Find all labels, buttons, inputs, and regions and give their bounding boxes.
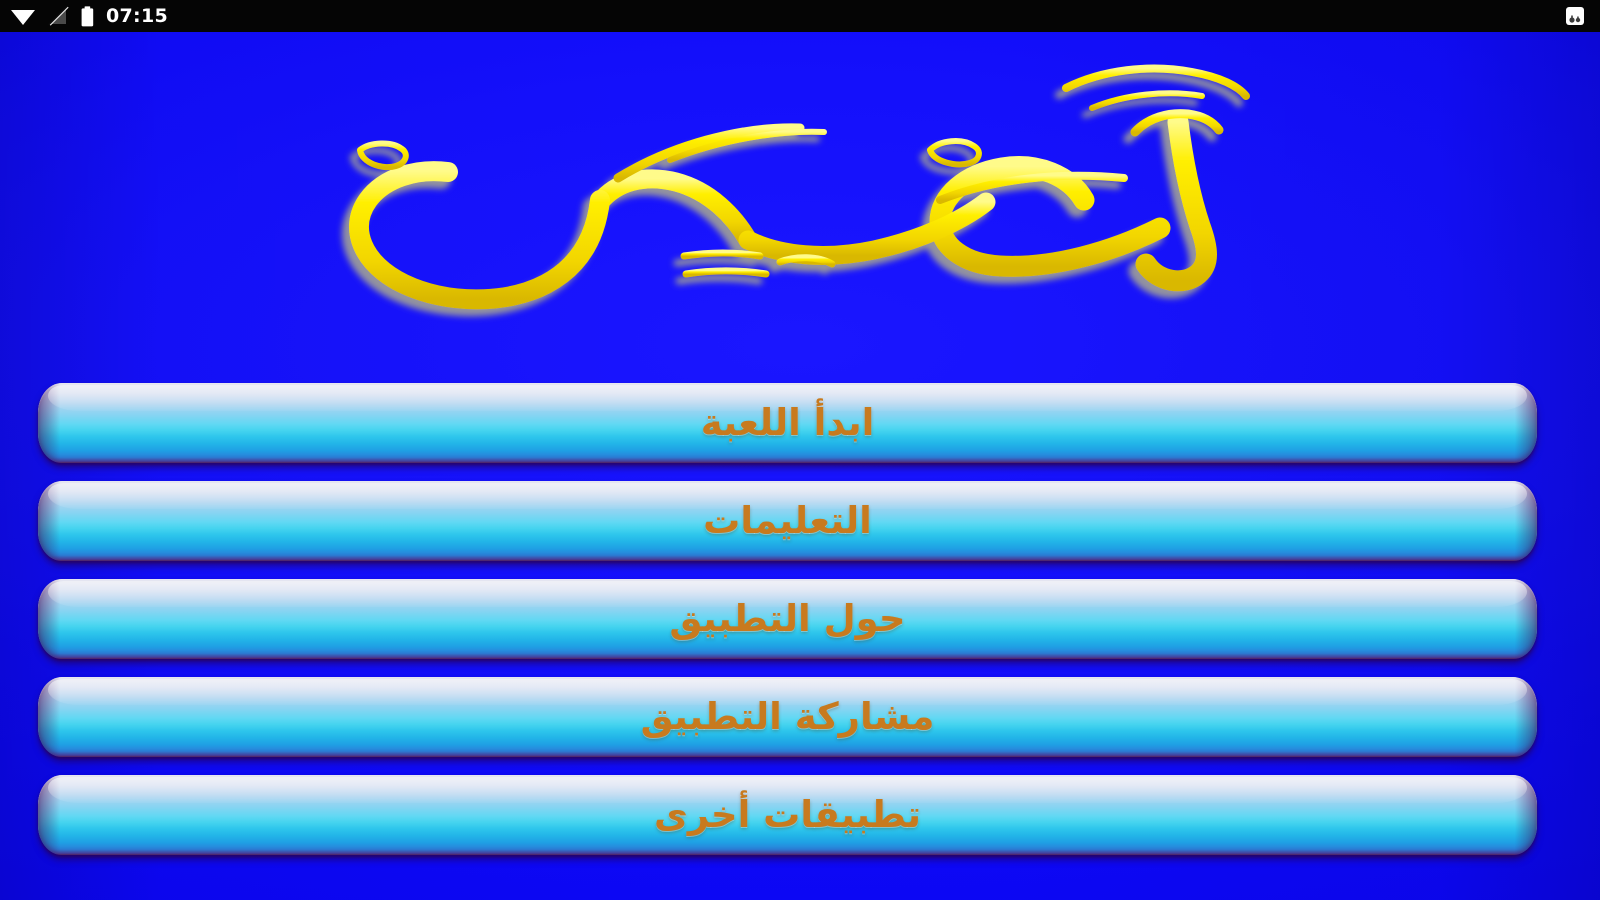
app-content: ابدأ اللعبة التعليمات حول التطبيق مشاركة…	[0, 32, 1600, 900]
status-bar-clock: 07:15	[106, 6, 168, 26]
android-status-bar: 07:15	[0, 0, 1600, 32]
wifi-icon	[10, 6, 36, 26]
menu-button-share-app[interactable]: مشاركة التطبيق	[38, 677, 1537, 757]
status-bar-notifications	[1564, 5, 1586, 27]
menu-button-start-game-label: ابدأ اللعبة	[38, 383, 1537, 463]
menu-button-other-apps[interactable]: تطبيقات أخرى	[38, 775, 1537, 855]
menu-button-about-app-label: حول التطبيق	[38, 579, 1537, 659]
menu-button-instructions-label: التعليمات	[38, 481, 1537, 561]
app-logo	[0, 32, 1600, 367]
main-menu: ابدأ اللعبة التعليمات حول التطبيق مشاركة…	[38, 383, 1537, 855]
status-bar-system-icons: 07:15	[10, 6, 168, 27]
menu-button-share-app-label: مشاركة التطبيق	[38, 677, 1537, 757]
screenshot-image-icon	[1564, 5, 1586, 27]
menu-button-other-apps-label: تطبيقات أخرى	[38, 775, 1537, 855]
app-screen: 07:15	[0, 0, 1600, 900]
battery-icon	[80, 6, 95, 27]
menu-button-instructions[interactable]: التعليمات	[38, 481, 1537, 561]
menu-button-about-app[interactable]: حول التطبيق	[38, 579, 1537, 659]
menu-button-start-game[interactable]: ابدأ اللعبة	[38, 383, 1537, 463]
arabic-calligraphy-logo-icon	[240, 50, 1360, 350]
mobile-signal-off-icon	[47, 6, 69, 26]
